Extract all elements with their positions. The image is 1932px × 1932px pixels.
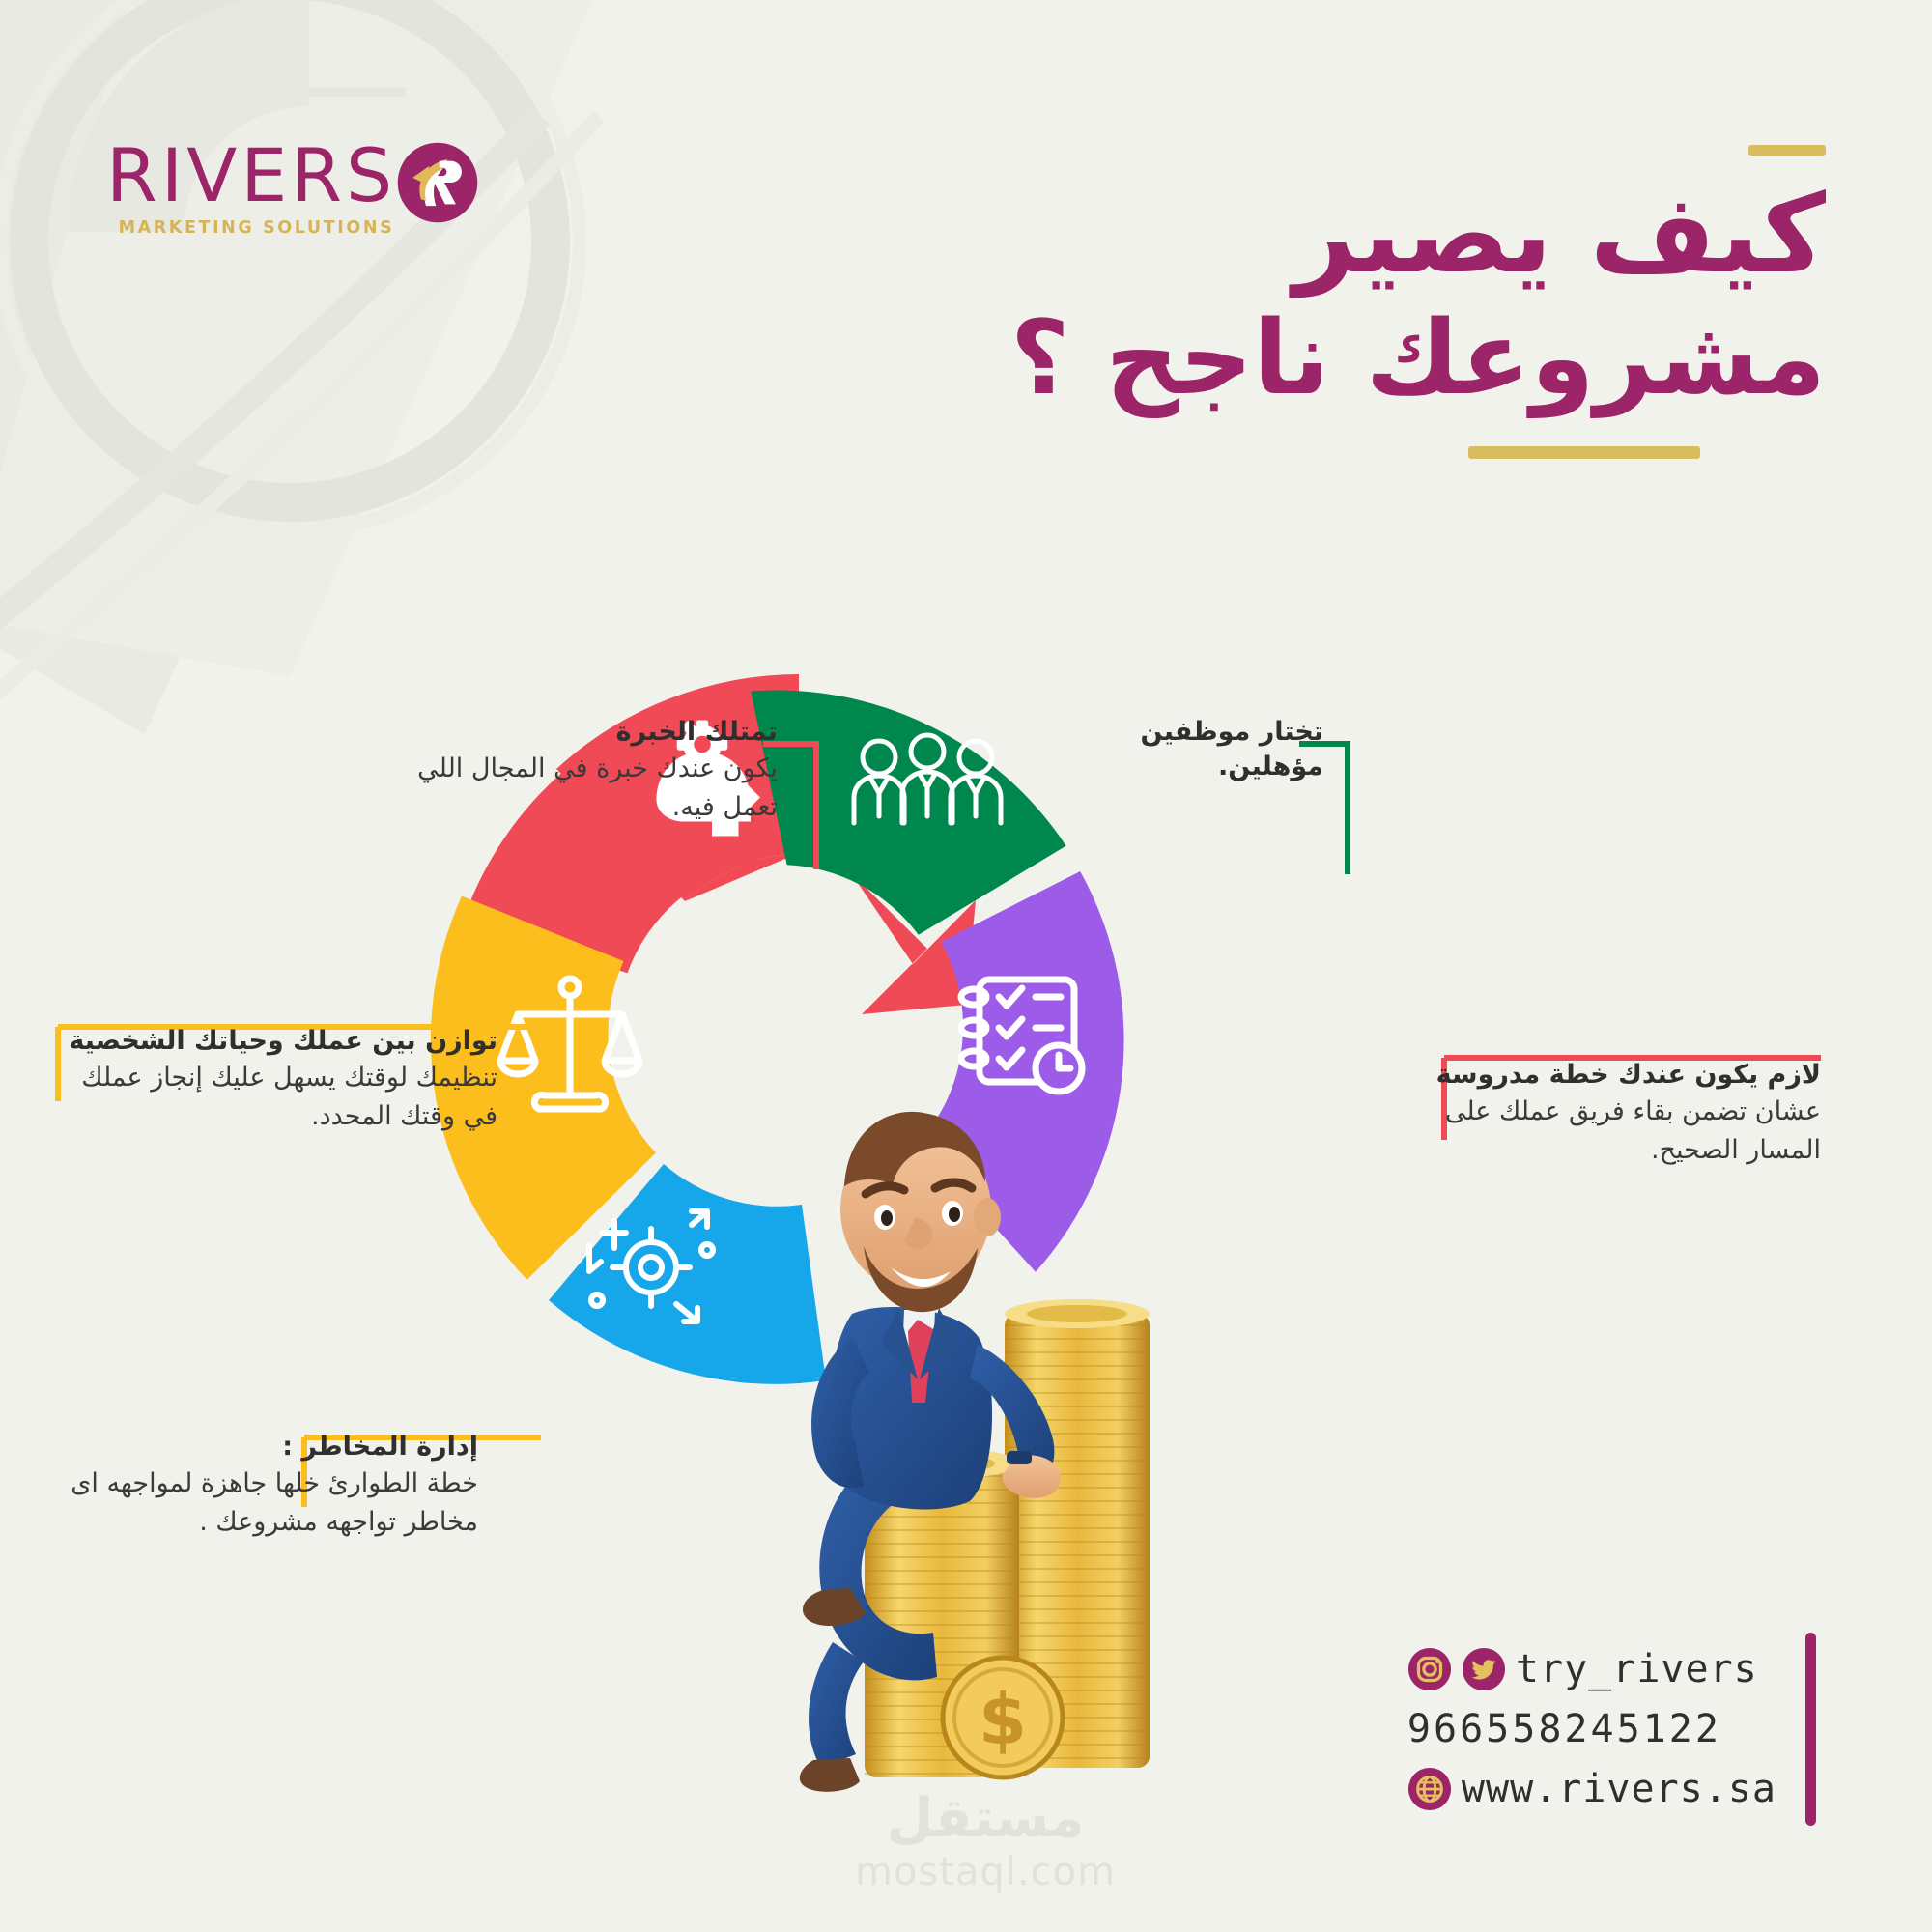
logo-wordmark: RIVERS — [106, 135, 396, 216]
contact-footer: try_rivers 966558245122 www.rivers.s — [1407, 1633, 1816, 1826]
title-accent-dash-bottom — [1468, 446, 1700, 459]
phone-number: 966558245122 — [1407, 1707, 1721, 1751]
callout-plan: لازم يكون عندك خطة مدروسة عشان تضمن بقاء… — [1406, 1058, 1821, 1170]
infographic-canvas: RIVERS MARKETING SOLUTIONS كيف يصير مشرو… — [0, 0, 1932, 1932]
title-accent-dash-top — [1748, 145, 1826, 156]
callout-employees-heading: تختار موظفين — [976, 715, 1323, 750]
callout-balance-heading: توازن بين عملك وحياتك الشخصية — [58, 1024, 497, 1059]
dollar-coin: $ — [943, 1658, 1063, 1777]
callout-experience-heading: تمتلك الخبرة — [372, 715, 778, 750]
contact-row-website[interactable]: www.rivers.sa — [1407, 1759, 1776, 1819]
logo-tagline: MARKETING SOLUTIONS — [106, 218, 396, 238]
callout-risk: إدارة المخاطر : خطة الطوارئ خلها جاهزة ل… — [53, 1430, 478, 1542]
callout-employees-body: مؤهلين. — [976, 750, 1323, 784]
contact-row-phone[interactable]: 966558245122 — [1407, 1699, 1776, 1759]
callout-plan-body: عشان تضمن بقاء فريق عملك على المسار الصح… — [1406, 1093, 1821, 1170]
businessman-coins-illustration: $ — [763, 1024, 1217, 1826]
page-title: كيف يصير مشروعك ناجح ؟ — [956, 145, 1826, 459]
dollar-symbol: $ — [979, 1679, 1027, 1760]
globe-icon[interactable] — [1407, 1767, 1452, 1811]
contact-accent-bar — [1805, 1633, 1816, 1826]
callout-experience-body: يكون عندك خبرة في المجال اللي تعمل فيه. — [372, 750, 778, 827]
callout-plan-heading: لازم يكون عندك خطة مدروسة — [1406, 1058, 1821, 1093]
twitter-icon[interactable] — [1462, 1647, 1506, 1691]
website-url: www.rivers.sa — [1462, 1767, 1776, 1811]
instagram-icon[interactable] — [1407, 1647, 1452, 1691]
rivers-r-swoosh-icon — [396, 141, 479, 224]
callout-balance: توازن بين عملك وحياتك الشخصية تنظيمك لوق… — [58, 1024, 497, 1136]
callout-experience: تمتلك الخبرة يكون عندك خبرة في المجال ال… — [372, 715, 778, 827]
title-line-1: كيف يصير — [956, 177, 1826, 294]
callout-employees: تختار موظفين مؤهلين. — [976, 715, 1323, 785]
mostaql-watermark-latin: mostaql.com — [840, 1850, 1130, 1894]
social-handle: try_rivers — [1516, 1647, 1758, 1691]
contact-row-social[interactable]: try_rivers — [1407, 1639, 1776, 1699]
callout-risk-heading: إدارة المخاطر : — [53, 1430, 478, 1464]
mostaql-watermark: مستقل mostaql.com — [840, 1792, 1130, 1894]
title-line-2: مشروعك ناجح ؟ — [956, 303, 1826, 413]
mostaql-watermark-arabic: مستقل — [840, 1792, 1130, 1846]
brand-logo: RIVERS MARKETING SOLUTIONS — [116, 135, 479, 238]
callout-risk-body: خطة الطوارئ خلها جاهزة لمواجهه اى مخاطر … — [53, 1464, 478, 1542]
callout-balance-body: تنظيمك لوقتك يسهل عليك إنجاز عملك في وقت… — [58, 1059, 497, 1136]
